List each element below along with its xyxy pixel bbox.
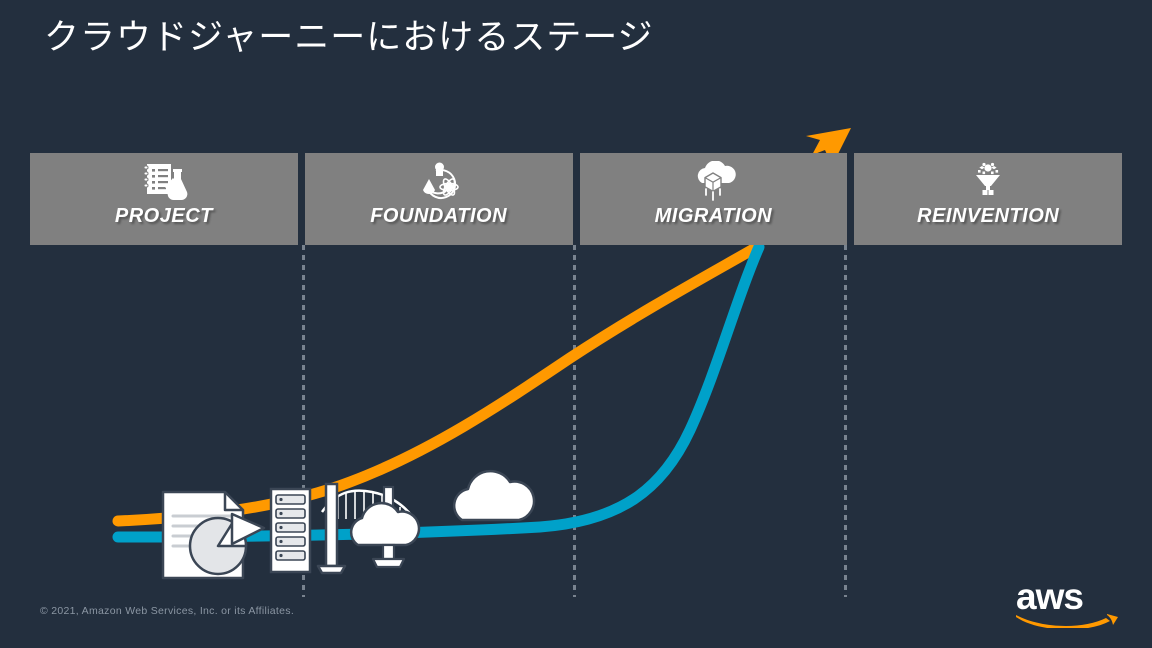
- aws-wordmark: aws: [1014, 582, 1122, 612]
- stage-divider-3: [844, 245, 847, 597]
- stage-band-row: PROJECT FOUNDATION: [30, 153, 1122, 245]
- play-button-icon: [232, 514, 264, 544]
- stage-divider-2: [573, 245, 576, 597]
- stage-label: PROJECT: [115, 205, 213, 228]
- cloud-icon: [454, 471, 534, 520]
- page-title: クラウドジャーニーにおけるステージ: [44, 15, 654, 60]
- node-atom-icon: [416, 161, 462, 201]
- stage-card-project[interactable]: PROJECT: [30, 153, 298, 245]
- document-icon: [163, 492, 243, 578]
- stage-label: FOUNDATION: [370, 205, 507, 228]
- stage-label: REINVENTION: [917, 205, 1059, 228]
- notepad-flask-icon: [140, 161, 188, 201]
- presentation-slide: クラウドジャーニーにおけるステージ: [0, 0, 1152, 648]
- stage-card-migration[interactable]: MIGRATION: [580, 153, 848, 245]
- stage-card-foundation[interactable]: FOUNDATION: [305, 153, 573, 245]
- blue-curve: [118, 247, 759, 537]
- orange-curve: [118, 247, 757, 521]
- cloud-on-stand-icon: [351, 487, 419, 567]
- aws-smile-icon: [1014, 612, 1122, 628]
- journey-chart: [0, 0, 1152, 648]
- stage-card-reinvention[interactable]: REINVENTION: [854, 153, 1122, 245]
- bouquet-funnel-icon: [965, 161, 1011, 201]
- copyright-text: © 2021, Amazon Web Services, Inc. or its…: [40, 605, 294, 617]
- aws-logo: aws: [1014, 582, 1122, 626]
- stage-divider-1: [302, 245, 305, 597]
- stage-label: MIGRATION: [655, 205, 772, 228]
- pie-chart-icon: [190, 518, 246, 574]
- cloud-box-icon: [690, 161, 736, 201]
- illustration-group: [163, 471, 534, 578]
- bridge-icon: [318, 484, 412, 573]
